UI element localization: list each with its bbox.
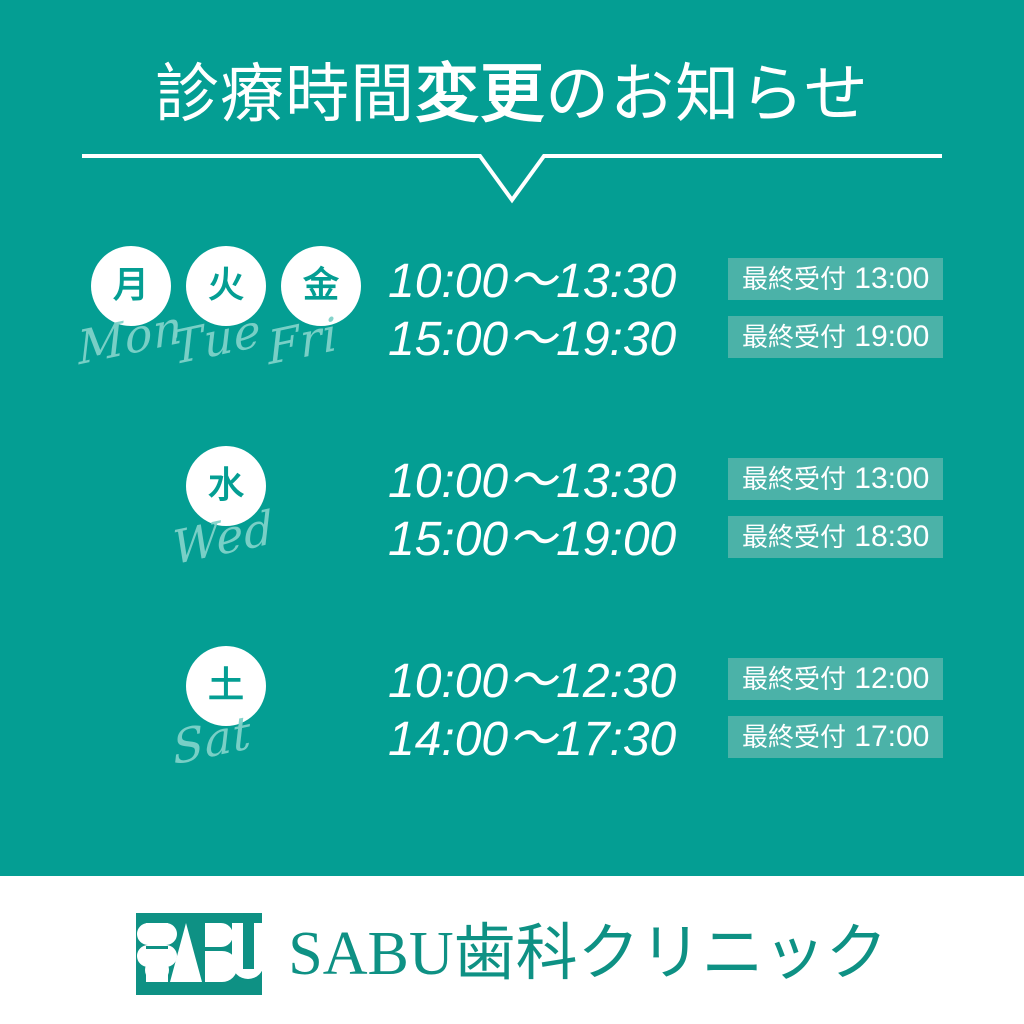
badge-label: 最終受付 xyxy=(742,665,846,695)
badge-label: 最終受付 xyxy=(742,465,846,495)
badge-time: 18:30 xyxy=(854,520,929,553)
time-range: 10:00〜13:30 xyxy=(388,254,676,310)
title-suffix: のお知らせ xyxy=(545,58,869,130)
time-range: 14:00〜17:30 xyxy=(388,712,676,768)
footer-logo: SABU歯科クリニック xyxy=(0,906,1024,1002)
status-badge: 最終受付 18:30 xyxy=(728,516,943,558)
time-range: 10:00〜13:30 xyxy=(388,454,676,510)
sabu-logo-icon xyxy=(136,913,262,995)
day-group-sat: 土 Sat xyxy=(186,646,276,816)
time-range: 15:00〜19:30 xyxy=(388,312,676,368)
page-title: 診療時間変更のお知らせ xyxy=(0,56,1024,132)
badge-time: 13:00 xyxy=(854,262,929,295)
time-list: 10:00〜12:30 最終受付 12:00 14:00〜17:30 最終受付 … xyxy=(388,654,948,770)
clinic-name: SABU歯科クリニック xyxy=(288,913,887,995)
status-badge: 最終受付 13:00 xyxy=(728,458,943,500)
status-badge: 最終受付 17:00 xyxy=(728,716,943,758)
status-badge: 最終受付 12:00 xyxy=(728,658,943,700)
badge-time: 13:00 xyxy=(854,462,929,495)
list-item: 15:00〜19:30 最終受付 19:00 xyxy=(388,312,948,368)
day-group-mon-tue-fri: 月 Mon 火 Tue 金 Fri xyxy=(91,246,371,416)
table-row: 月 Mon 火 Tue 金 Fri 10:00〜13:30 最終受付 13:00 xyxy=(0,246,1024,446)
day-cell-fri: 金 Fri xyxy=(281,246,361,416)
title-emphasis: 変更 xyxy=(415,58,545,130)
list-item: 15:00〜19:00 最終受付 18:30 xyxy=(388,512,948,568)
day-cell-tue: 火 Tue xyxy=(186,246,266,416)
time-range: 15:00〜19:00 xyxy=(388,512,676,568)
day-group-wed: 水 Wed xyxy=(186,446,276,616)
schedule-table: 月 Mon 火 Tue 金 Fri 10:00〜13:30 最終受付 13:00 xyxy=(0,246,1024,846)
badge-time: 12:00 xyxy=(854,662,929,695)
clinic-hours-poster: 診療時間変更のお知らせ 月 Mon 火 Tue 金 Fri xyxy=(0,0,1024,1024)
badge-label: 最終受付 xyxy=(742,723,846,753)
list-item: 10:00〜13:30 最終受付 13:00 xyxy=(388,454,948,510)
table-row: 土 Sat 10:00〜12:30 最終受付 12:00 14:00〜17:30… xyxy=(0,646,1024,846)
badge-label: 最終受付 xyxy=(742,323,846,353)
title-prefix: 診療時間 xyxy=(155,58,415,130)
badge-label: 最終受付 xyxy=(742,265,846,295)
badge-time: 17:00 xyxy=(854,720,929,753)
time-range: 10:00〜12:30 xyxy=(388,654,676,710)
list-item: 14:00〜17:30 最終受付 17:00 xyxy=(388,712,948,768)
list-item: 10:00〜12:30 最終受付 12:00 xyxy=(388,654,948,710)
divider-icon xyxy=(82,150,942,206)
divider-with-chevron xyxy=(82,150,942,206)
badge-label: 最終受付 xyxy=(742,523,846,553)
time-list: 10:00〜13:30 最終受付 13:00 15:00〜19:30 最終受付 … xyxy=(388,254,948,370)
day-cell-mon: 月 Mon xyxy=(91,246,171,416)
day-cell-sat: 土 Sat xyxy=(186,646,266,816)
list-item: 10:00〜13:30 最終受付 13:00 xyxy=(388,254,948,310)
status-badge: 最終受付 13:00 xyxy=(728,258,943,300)
day-cell-wed: 水 Wed xyxy=(186,446,266,616)
badge-time: 19:00 xyxy=(854,320,929,353)
time-list: 10:00〜13:30 最終受付 13:00 15:00〜19:00 最終受付 … xyxy=(388,454,948,570)
status-badge: 最終受付 19:00 xyxy=(728,316,943,358)
table-row: 水 Wed 10:00〜13:30 最終受付 13:00 15:00〜19:00… xyxy=(0,446,1024,646)
